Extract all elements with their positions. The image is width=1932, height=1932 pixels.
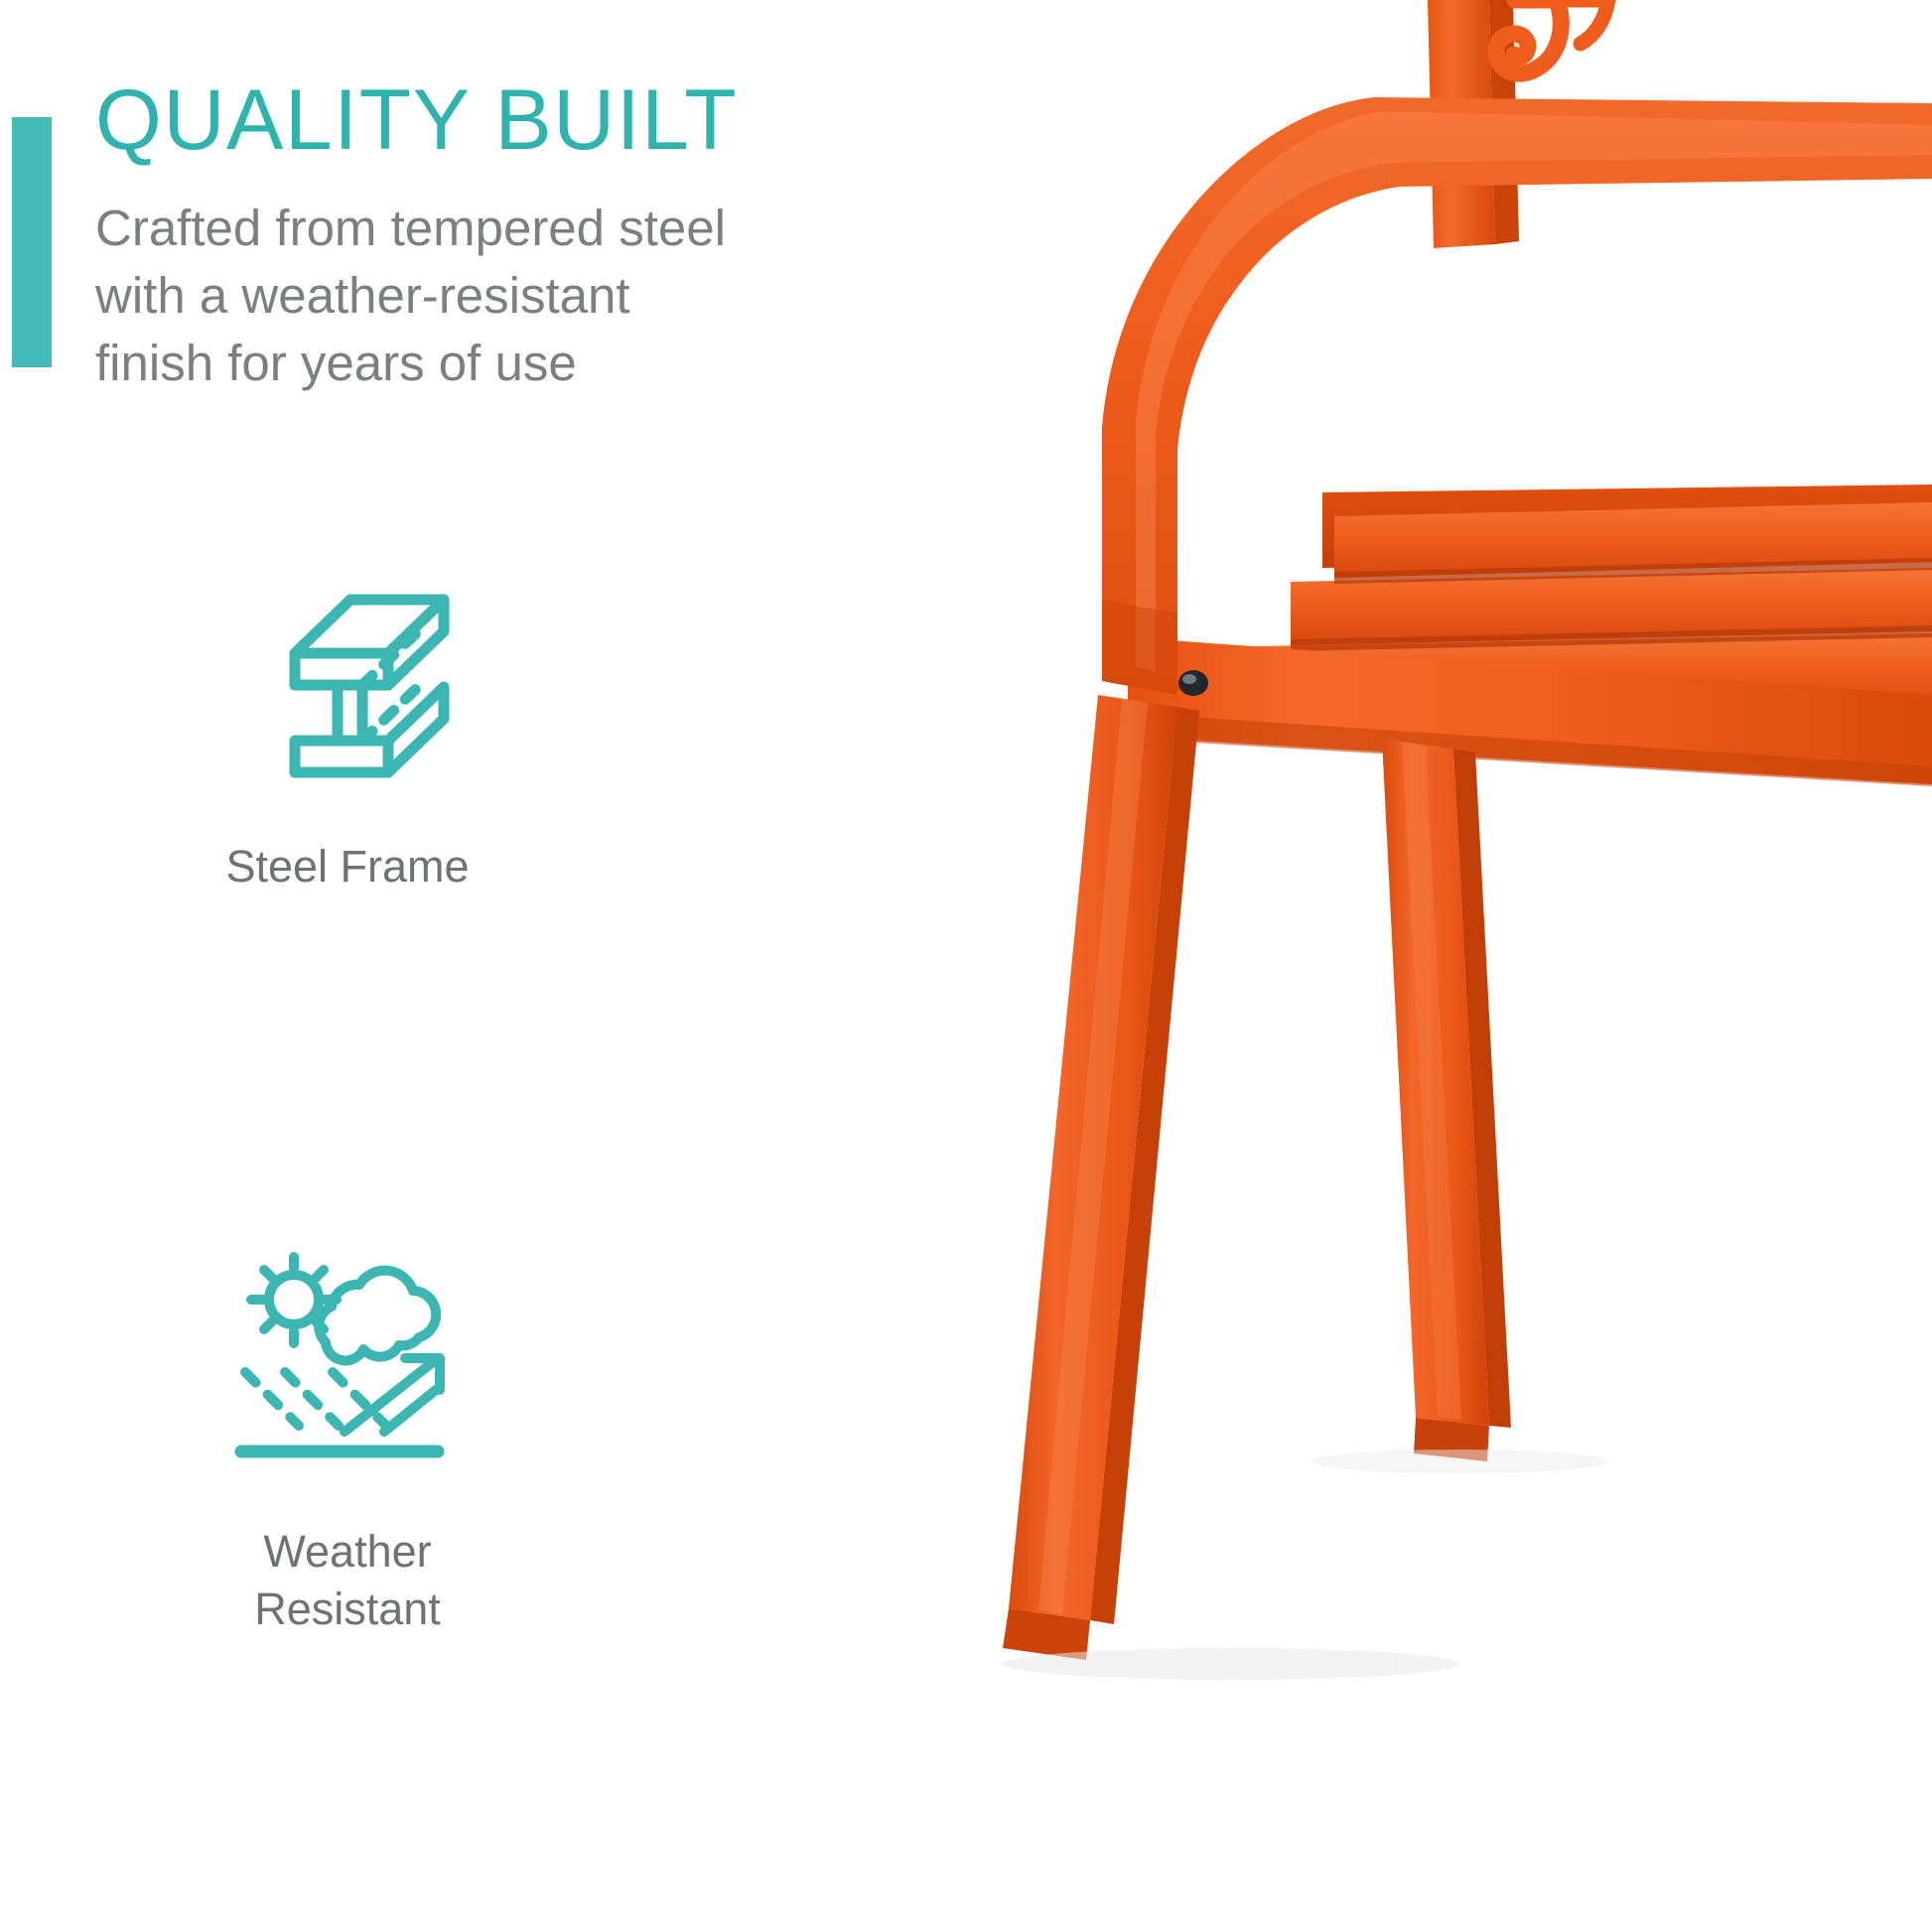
feature-label-line-1: Weather xyxy=(129,1523,566,1581)
product-photo xyxy=(933,0,1932,1932)
i-beam-icon xyxy=(129,566,566,794)
accent-bar xyxy=(12,117,52,367)
feature-label-line-2: Resistant xyxy=(129,1581,566,1638)
feature-weather-resistant-label: Weather Resistant xyxy=(129,1523,566,1637)
feature-weather-resistant: Weather Resistant xyxy=(129,1251,566,1637)
sun-cloud-deflect-icon xyxy=(129,1251,566,1479)
subtitle-copy: Crafted from tempered steel with a weath… xyxy=(95,195,780,396)
page-title: QUALITY BUILT xyxy=(95,77,738,163)
subtitle-line-3: finish for years of use xyxy=(95,330,780,397)
feature-label-line-1: Steel Frame xyxy=(129,838,566,896)
feature-steel-frame: Steel Frame xyxy=(129,566,566,896)
feature-steel-frame-label: Steel Frame xyxy=(129,838,566,896)
marketing-banner: QUALITY BUILT Crafted from tempered stee… xyxy=(0,0,1932,1932)
subtitle-line-1: Crafted from tempered steel xyxy=(95,195,780,262)
subtitle-line-2: with a weather-resistant xyxy=(95,262,780,330)
